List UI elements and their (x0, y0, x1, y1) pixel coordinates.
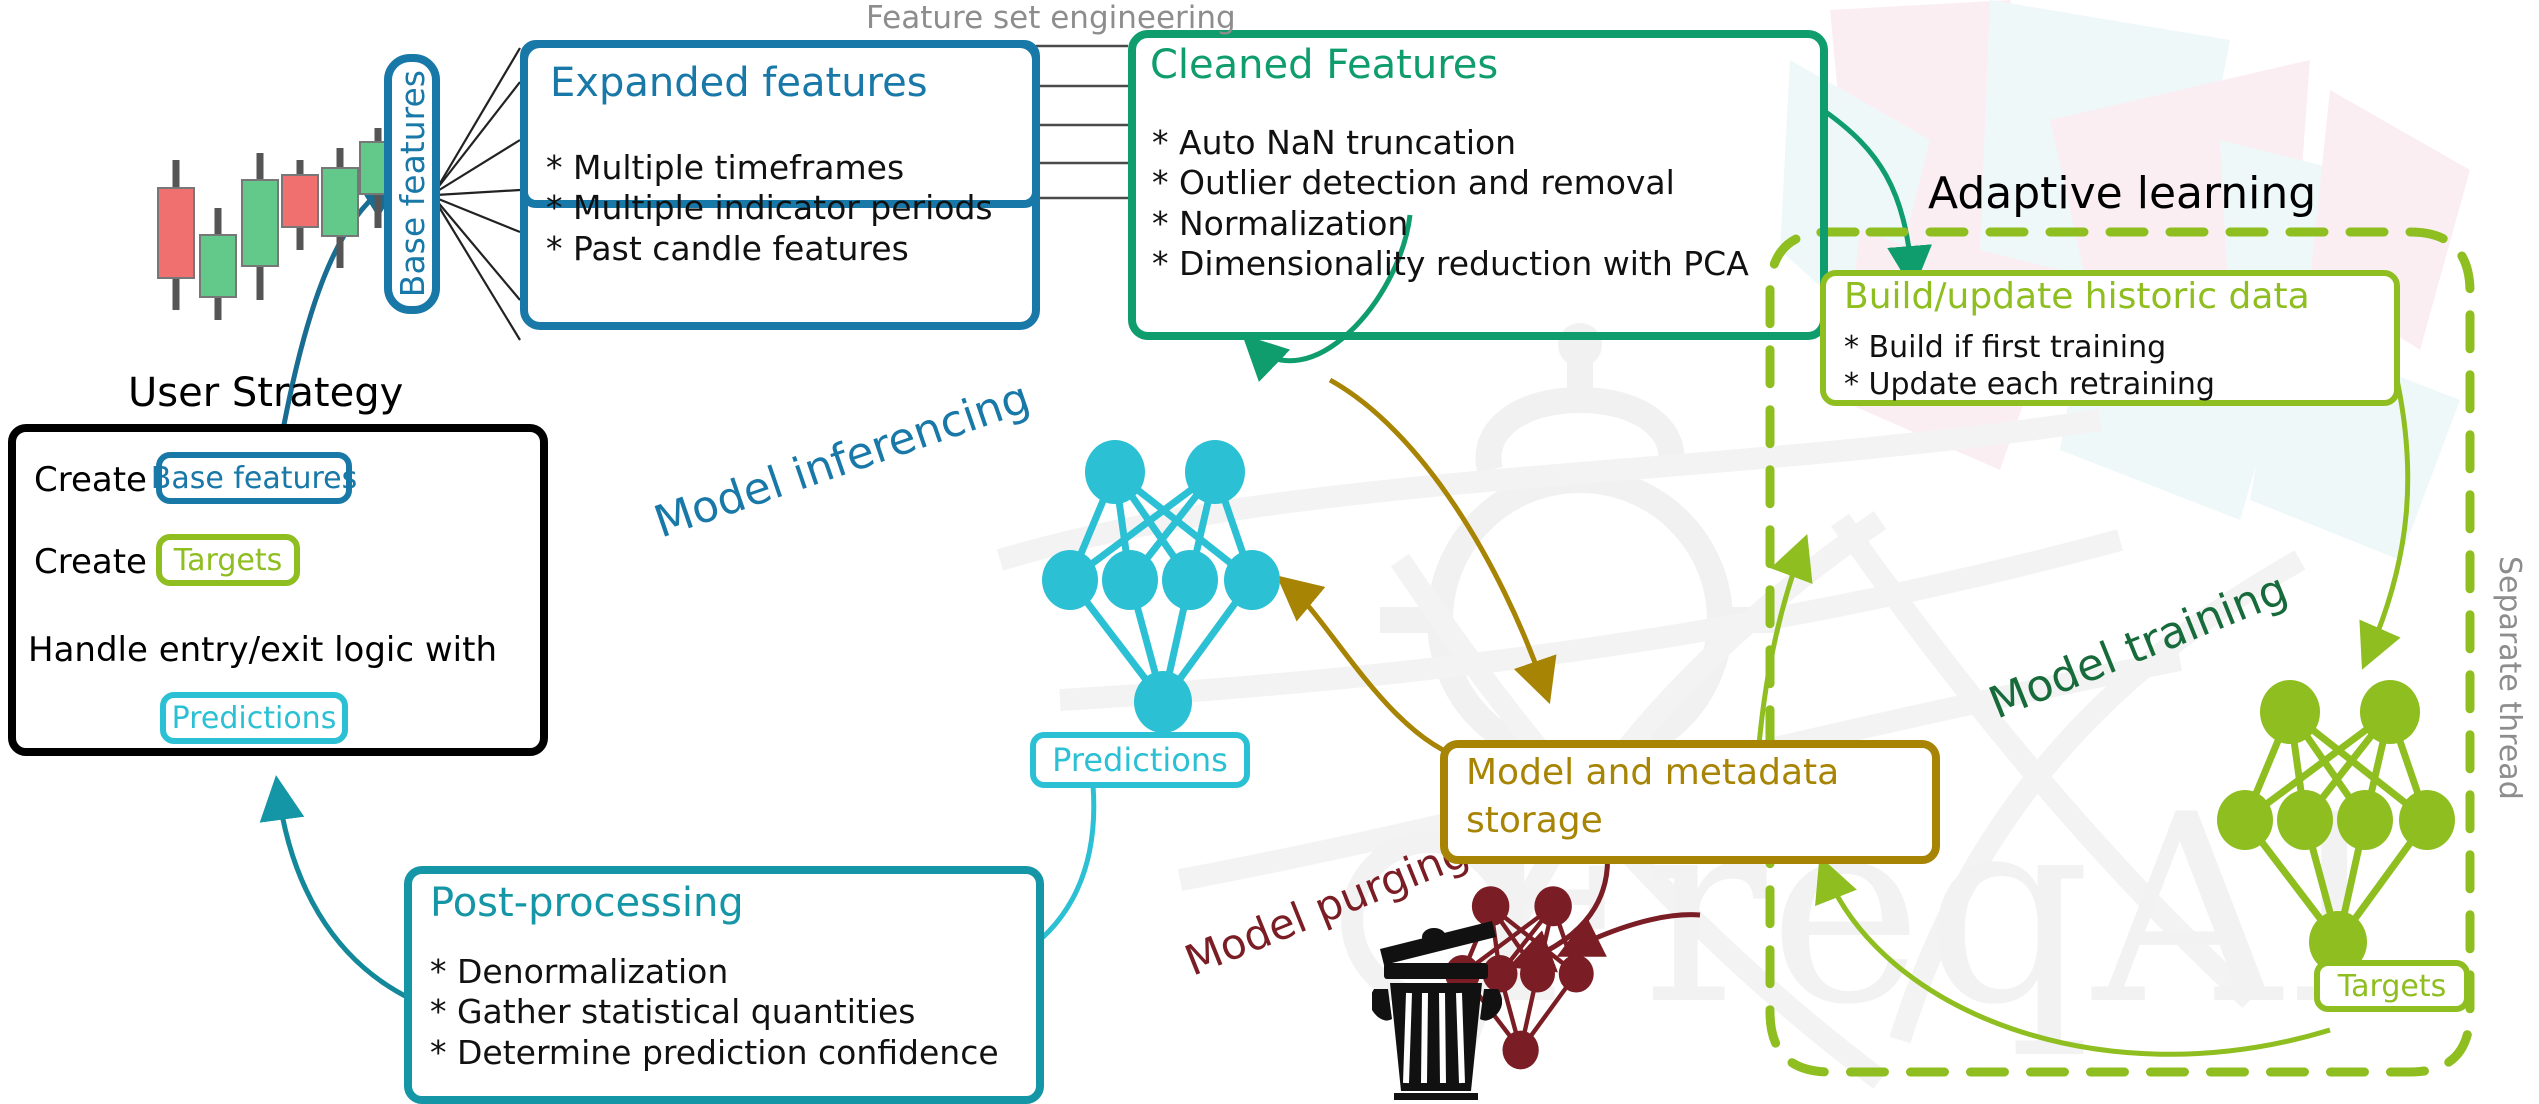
connector-rungs (1036, 46, 1128, 198)
post-processing-bullets: * Denormalization * Gather statistical q… (430, 952, 1050, 1073)
cleaned-features-bullets: * Auto NaN truncation * Outlier detectio… (1152, 123, 1832, 284)
candlestick-chart-icon (150, 120, 400, 370)
pill-label: Predictions (172, 701, 337, 736)
build-update-historic-data-bullets: * Build if first training * Update each … (1844, 330, 2404, 403)
separate-thread-label: Separate thread (2492, 556, 2527, 800)
arrow-inference-to-storage (1330, 380, 1545, 690)
bullet: * Dimensionality reduction with PCA (1152, 244, 1832, 284)
predictions-pill-center[interactable]: Predictions (1030, 732, 1250, 788)
bullet: * Multiple indicator periods (546, 188, 1046, 228)
bullet: * Build if first training (1844, 330, 2404, 367)
pill-label: Targets (174, 543, 282, 578)
user-strategy-label: User Strategy (128, 370, 403, 416)
bullet: * Update each retraining (1844, 367, 2404, 404)
pill-label: Predictions (1052, 741, 1228, 779)
base-features-pill[interactable]: Base features (384, 54, 440, 314)
bullet: * Denormalization (430, 952, 1050, 992)
pill-label: Targets (2338, 969, 2446, 1004)
user-strategy-entry-exit-text: Handle entry/exit logic with (28, 630, 497, 670)
pill-label: Base features (151, 461, 358, 496)
neural-network-icon-inference (1020, 430, 1320, 750)
model-inferencing-label-line1: Model inferencing (648, 372, 1036, 548)
bullet: * Multiple timeframes (546, 148, 1046, 188)
user-strategy-create-base-prefix: Create (34, 460, 147, 500)
bullet: * Normalization (1152, 204, 1832, 244)
neural-network-icon-training (2195, 670, 2495, 990)
cleaned-features-title: Cleaned Features (1150, 44, 1806, 86)
arrow-cleaned-to-adaptive-learning (1823, 110, 1912, 276)
bullet: * Outlier detection and removal (1152, 163, 1832, 203)
model-metadata-storage-line2: storage (1466, 800, 1603, 841)
user-strategy-targets-pill[interactable]: Targets (156, 534, 300, 586)
arrow-postprocessing-to-user-strategy (278, 790, 413, 1000)
expanded-features-bullets: * Multiple timeframes * Multiple indicat… (546, 148, 1046, 269)
model-metadata-storage-line1: Model and metadata (1466, 752, 1839, 793)
user-strategy-predictions-pill[interactable]: Predictions (160, 692, 348, 744)
diagram-canvas: FreqAI (0, 0, 2539, 1104)
build-update-historic-data-title: Build/update historic data (1844, 276, 2310, 317)
expanded-features-title: Expanded features (550, 62, 1010, 104)
targets-pill-right[interactable]: Targets (2314, 960, 2470, 1012)
bullet: * Past candle features (546, 229, 1046, 269)
bullet: * Gather statistical quantities (430, 992, 1050, 1032)
trash-can-icon (1372, 915, 1502, 1100)
adaptive-learning-label: Adaptive learning (1928, 168, 2316, 219)
base-features-label: Base features (393, 70, 432, 297)
post-processing-title: Post-processing (430, 880, 744, 926)
bullet: * Auto NaN truncation (1152, 123, 1832, 163)
fanout-base-to-expanded (436, 48, 520, 340)
user-strategy-create-targets-prefix: Create (34, 542, 147, 582)
feature-set-engineering-label: Feature set engineering (866, 0, 1236, 36)
user-strategy-base-features-pill[interactable]: Base features (156, 452, 352, 504)
model-inferencing-text: Model inferencing (648, 372, 1036, 548)
bullet: * Determine prediction confidence (430, 1033, 1050, 1073)
